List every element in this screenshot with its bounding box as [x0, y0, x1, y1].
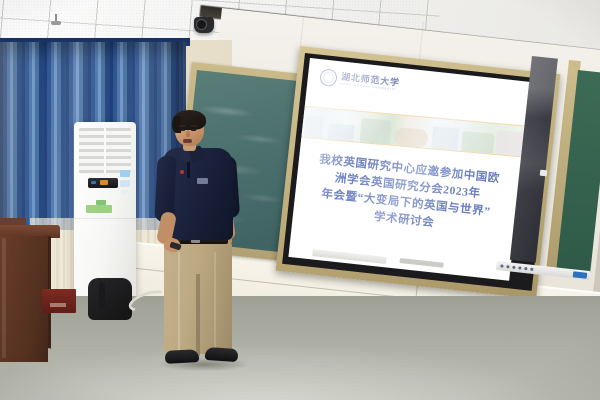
slide-university-logo: 湖北师范大学 HUBEI NORMAL UNIVERSITY: [319, 68, 400, 94]
presentation-slide[interactable]: 湖北师范大学 HUBEI NORMAL UNIVERSITY 我校英国研究中心应…: [288, 58, 530, 281]
presenter: [150, 112, 245, 374]
home-button[interactable]: [530, 268, 533, 271]
menu-button[interactable]: [524, 267, 527, 270]
ac-label-sticker: [121, 190, 130, 195]
red-box-label: [50, 303, 66, 307]
ac-label-sticker: [120, 170, 130, 177]
source-button[interactable]: [506, 265, 509, 268]
ac-label-sticker: [120, 180, 130, 187]
lecture-hall-photo: 湖北师范大学 HUBEI NORMAL UNIVERSITY 我校英国研究中心应…: [0, 0, 600, 400]
black-backpack: [88, 278, 132, 320]
camera-lens-icon: [196, 19, 207, 30]
ac-panel-seam: [74, 218, 136, 219]
trouser-crease: [214, 252, 216, 350]
shirt-chest-logo: [197, 178, 208, 184]
university-seal-icon: [319, 68, 338, 87]
left-shoe: [165, 349, 200, 364]
slide-campus-banner: [298, 105, 531, 157]
lectern-highlight: [2, 238, 6, 358]
ac-brand-badge: [86, 205, 112, 213]
trouser-inseam: [196, 274, 200, 356]
slide-title: 我校英国研究中心应邀参加中国欧 洲学会英国研究分会2023年 年会暨“大变局下的…: [299, 150, 515, 240]
clip-microphone-icon: [180, 170, 184, 174]
mouth: [183, 139, 192, 143]
volume-up-button[interactable]: [518, 266, 521, 269]
nose: [186, 131, 190, 137]
volume-down-button[interactable]: [512, 266, 515, 269]
eye-right: [191, 129, 196, 131]
red-storage-box: [42, 289, 76, 313]
power-button[interactable]: [500, 264, 503, 267]
trouser-crease: [178, 252, 180, 352]
wooden-lectern[interactable]: [0, 236, 48, 362]
ceiling-hook-base: [51, 21, 61, 25]
right-shoe: [205, 347, 239, 362]
eyebrow-right: [190, 124, 197, 126]
display-brand-logo: [540, 170, 548, 177]
eye-left: [180, 129, 185, 131]
status-indicator: [573, 271, 588, 278]
ac-eco-badge: [96, 200, 106, 205]
ac-mode-indicator: [91, 181, 96, 184]
backpack-strap: [99, 282, 105, 308]
ac-temperature-readout: [100, 180, 108, 185]
ac-vent-divider: [104, 128, 106, 174]
